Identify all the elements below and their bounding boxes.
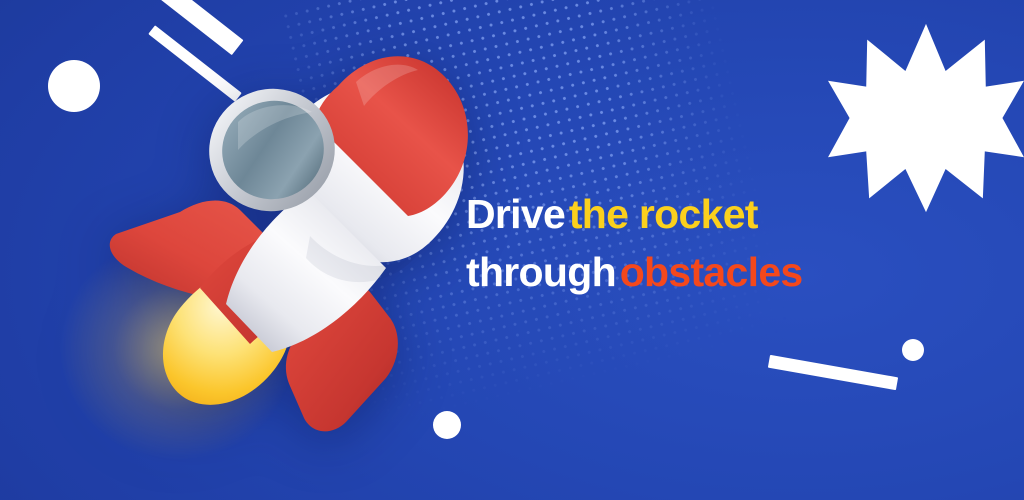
headline-word-the-rocket: the rocket: [569, 191, 758, 237]
starburst-icon: [828, 18, 1024, 218]
rocket-illustration: [60, 30, 490, 460]
headline-word-obstacles: obstacles: [620, 249, 803, 295]
headline-word-through: through: [466, 249, 616, 295]
headline-line-1: Drive the rocket: [466, 190, 986, 248]
headline-word-drive: Drive: [466, 191, 565, 237]
hero-banner: Drive the rocket through obstacles: [0, 0, 1024, 500]
headline: Drive the rocket through obstacles: [466, 190, 986, 306]
bar-bottom-decoration: [768, 355, 898, 390]
headline-line-2: through obstacles: [466, 248, 986, 306]
circle-right-decoration: [902, 339, 924, 361]
